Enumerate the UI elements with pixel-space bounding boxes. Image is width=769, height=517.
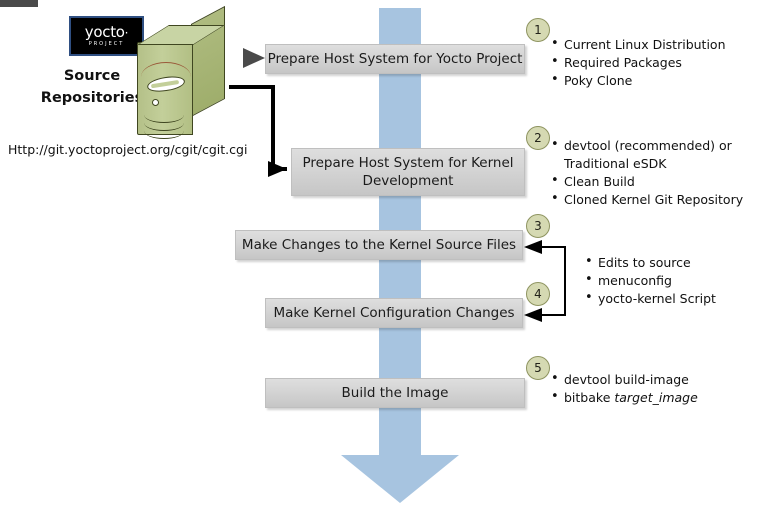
note-item: Required Packages	[551, 54, 726, 72]
bracket-connector-vertical	[564, 247, 566, 316]
yocto-logo-wordmark: yocto·	[85, 25, 128, 40]
process-flow-arrowhead-icon	[341, 455, 459, 503]
note-item: yocto-kernel Script	[585, 290, 716, 308]
server-vent-line	[144, 123, 184, 131]
note-item: devtool build-image	[551, 371, 698, 389]
step-number-badge-4: 4	[526, 282, 550, 306]
step-notes-5: devtool build-image bitbake target_image	[551, 371, 698, 407]
note-item: Clean Build	[551, 173, 743, 191]
step-box-1[interactable]: Prepare Host System for Yocto Project	[265, 44, 525, 74]
server-power-button-icon	[152, 99, 159, 106]
server-tower-icon	[137, 24, 229, 136]
server-drive-slot-icon	[146, 74, 186, 94]
server-bezel-arc	[141, 62, 191, 77]
note-item: bitbake target_image	[551, 389, 698, 407]
connector-server-to-step2-horizontal	[229, 85, 275, 89]
step-number-badge-2: 2	[526, 126, 550, 150]
note-item: devtool (recommended) or Traditional eSD…	[551, 137, 743, 173]
step-notes-2: devtool (recommended) or Traditional eSD…	[551, 137, 743, 210]
bracket-connector-bottom	[540, 314, 566, 316]
bracket-connector-top	[540, 246, 566, 248]
yocto-logo-subtitle: PROJECT	[89, 42, 125, 47]
server-side-face	[191, 6, 225, 117]
note-item: Poky Clone	[551, 72, 726, 90]
source-repositories-label: Source Repositories	[38, 65, 146, 110]
step-box-3[interactable]: Make Changes to the Kernel Source Files	[235, 230, 523, 260]
note-command-argument: target_image	[614, 390, 697, 405]
step-number-badge-5: 5	[526, 356, 550, 380]
step-number-badge-1: 1	[526, 18, 550, 42]
diagram-canvas: yocto· PROJECT Source Repositories Http:…	[0, 0, 769, 517]
server-vent-line	[144, 131, 184, 139]
step-box-4[interactable]: Make Kernel Configuration Changes	[265, 298, 523, 328]
note-item: menuconfig	[585, 272, 716, 290]
connector-arrowhead-icon	[268, 161, 287, 177]
step-notes-3-and-4: Edits to source menuconfig yocto-kernel …	[585, 254, 716, 308]
yocto-project-logo: yocto· PROJECT	[69, 16, 144, 56]
note-item: Current Linux Distribution	[551, 36, 726, 54]
step-notes-1: Current Linux Distribution Required Pack…	[551, 36, 726, 90]
note-command: bitbake	[564, 390, 614, 405]
source-repositories-url: Http://git.yoctoproject.org/cgit/cgit.cg…	[8, 142, 247, 157]
step-box-5[interactable]: Build the Image	[265, 378, 525, 408]
connector-arrowhead-icon	[243, 48, 265, 68]
note-item: Cloned Kernel Git Repository	[551, 191, 743, 209]
connector-server-to-step1	[0, 0, 38, 7]
connector-server-to-step2-vertical	[271, 85, 275, 171]
note-item: Edits to source	[585, 254, 716, 272]
step-box-2[interactable]: Prepare Host System for Kernel Developme…	[291, 148, 525, 196]
step-number-badge-3: 3	[526, 214, 550, 238]
server-vent-line	[144, 115, 184, 123]
bracket-arrowhead-icon-top	[524, 240, 542, 254]
server-front-face	[137, 42, 193, 135]
bracket-arrowhead-icon-bottom	[524, 308, 542, 322]
